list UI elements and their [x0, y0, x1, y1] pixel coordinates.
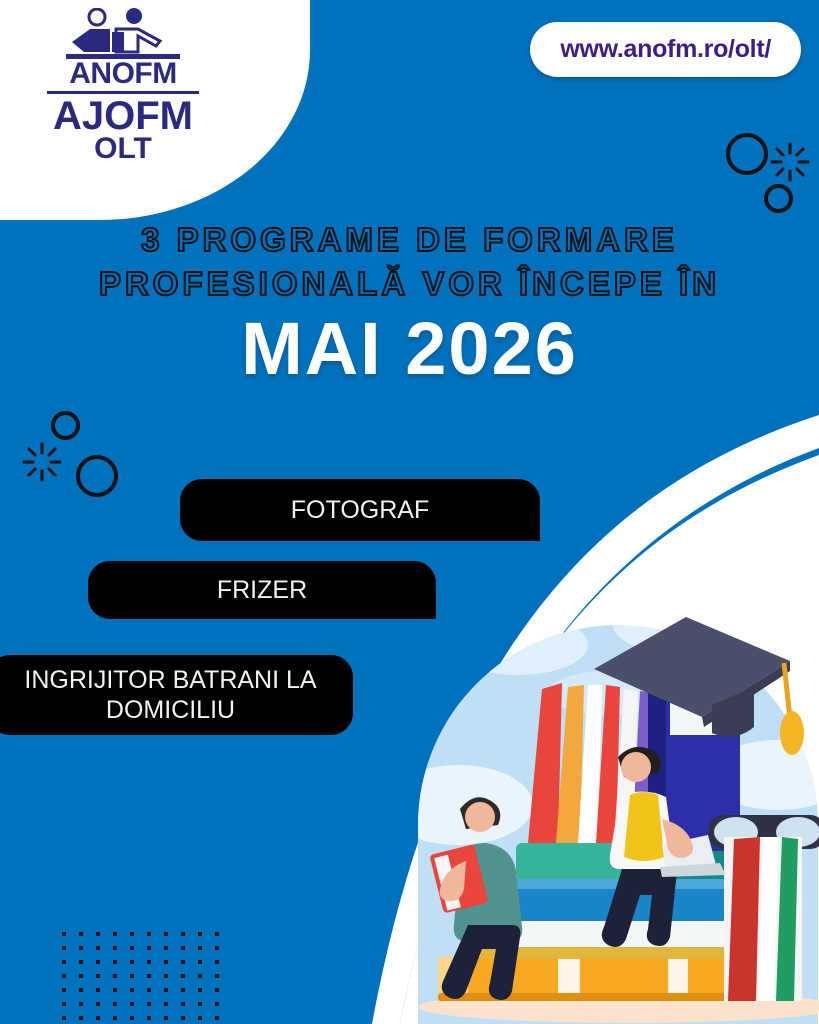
- decorative-dot-grid: [60, 930, 240, 1024]
- website-url-badge[interactable]: www.anofm.ro/olt/: [530, 22, 801, 77]
- decorative-ring-large-top-right: [726, 133, 768, 175]
- website-url-text: www.anofm.ro/olt/: [560, 35, 771, 63]
- ajofm-logo: ANOFM AJOFM OLT: [18, 8, 228, 168]
- headline-line-2: PROFESIONALĂ VOR ÎNCEPE ÎN: [24, 262, 795, 306]
- sparkle-icon-left: [20, 440, 64, 484]
- course-pill-frizer[interactable]: FRIZER: [88, 561, 436, 619]
- course-label: INGRIJITOR BATRANI LA DOMICILIU: [0, 665, 353, 726]
- decorative-ring-small-top-right: [764, 184, 793, 213]
- course-label: FOTOGRAF: [291, 495, 429, 526]
- headline-line-1: 3 PROGRAME DE FORMARE: [24, 218, 795, 262]
- course-label: FRIZER: [217, 575, 307, 606]
- decorative-ring-large-left: [76, 455, 118, 497]
- page-title: 3 PROGRAME DE FORMARE PROFESIONALĂ VOR Î…: [0, 218, 819, 305]
- decorative-ring-small-left: [51, 411, 80, 440]
- logo-olt-text: OLT: [18, 134, 228, 164]
- course-pill-fotograf[interactable]: FOTOGRAF: [180, 479, 540, 541]
- course-pill-ingrijitor[interactable]: INGRIJITOR BATRANI LA DOMICILIU: [0, 655, 353, 735]
- students-illustration: [398, 575, 819, 1024]
- start-date-heading: MAI 2026: [0, 312, 819, 386]
- poster-canvas: ANOFM AJOFM OLT www.anofm.ro/olt/ 3 PROG…: [0, 0, 819, 1024]
- logo-ajofm-text: AJOFM: [18, 96, 228, 136]
- sparkle-icon-top-right: [768, 140, 812, 184]
- logo-anofm-text: ANOFM: [18, 60, 228, 87]
